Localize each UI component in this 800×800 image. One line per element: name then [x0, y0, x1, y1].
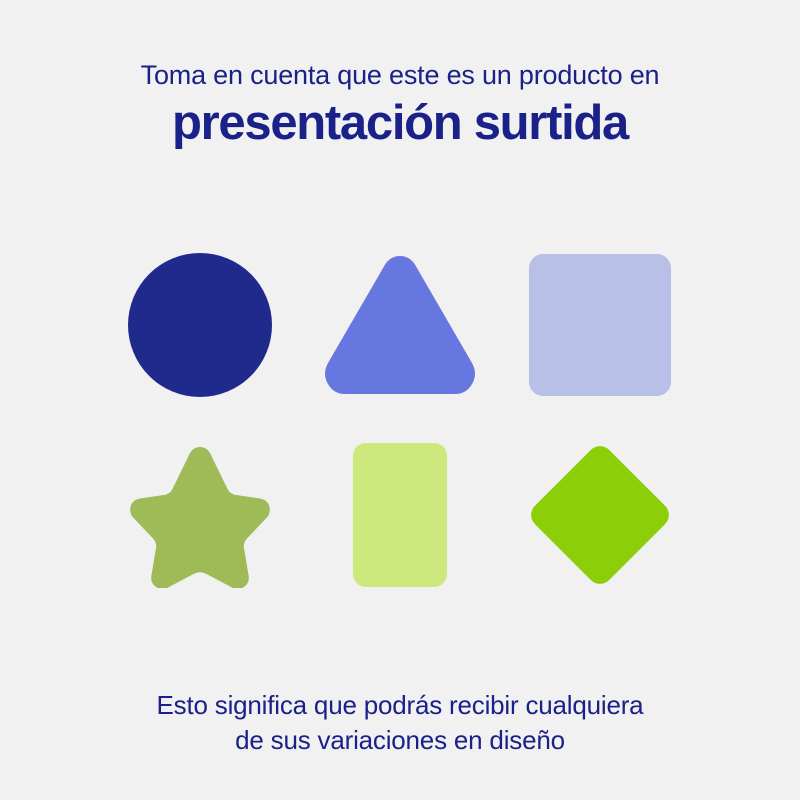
diamond-shape-icon	[522, 437, 678, 593]
shape-cell-circle	[100, 230, 300, 420]
star-shape-icon	[129, 442, 271, 588]
shape-cell-rectangle	[300, 420, 500, 610]
footer-line-2: de sus variaciones en diseño	[0, 723, 800, 758]
triangle-shape-icon	[320, 250, 480, 400]
footer-note: Esto significa que podrás recibir cualqu…	[0, 688, 800, 758]
square-shape-icon	[528, 253, 672, 397]
headline-line-1: Toma en cuenta que este es un producto e…	[0, 58, 800, 92]
shape-cell-triangle	[300, 230, 500, 420]
footer-line-1: Esto significa que podrás recibir cualqu…	[0, 688, 800, 723]
shape-cell-diamond	[500, 420, 700, 610]
shape-cell-square	[500, 230, 700, 420]
shape-cell-star	[100, 420, 300, 610]
rounded-rectangle-shape-icon	[352, 442, 448, 588]
headline-line-2: presentación surtida	[0, 94, 800, 152]
shape-grid	[100, 230, 700, 610]
circle-shape-icon	[126, 251, 274, 399]
product-variation-notice-card: Toma en cuenta que este es un producto e…	[0, 0, 800, 800]
headline: Toma en cuenta que este es un producto e…	[0, 58, 800, 152]
